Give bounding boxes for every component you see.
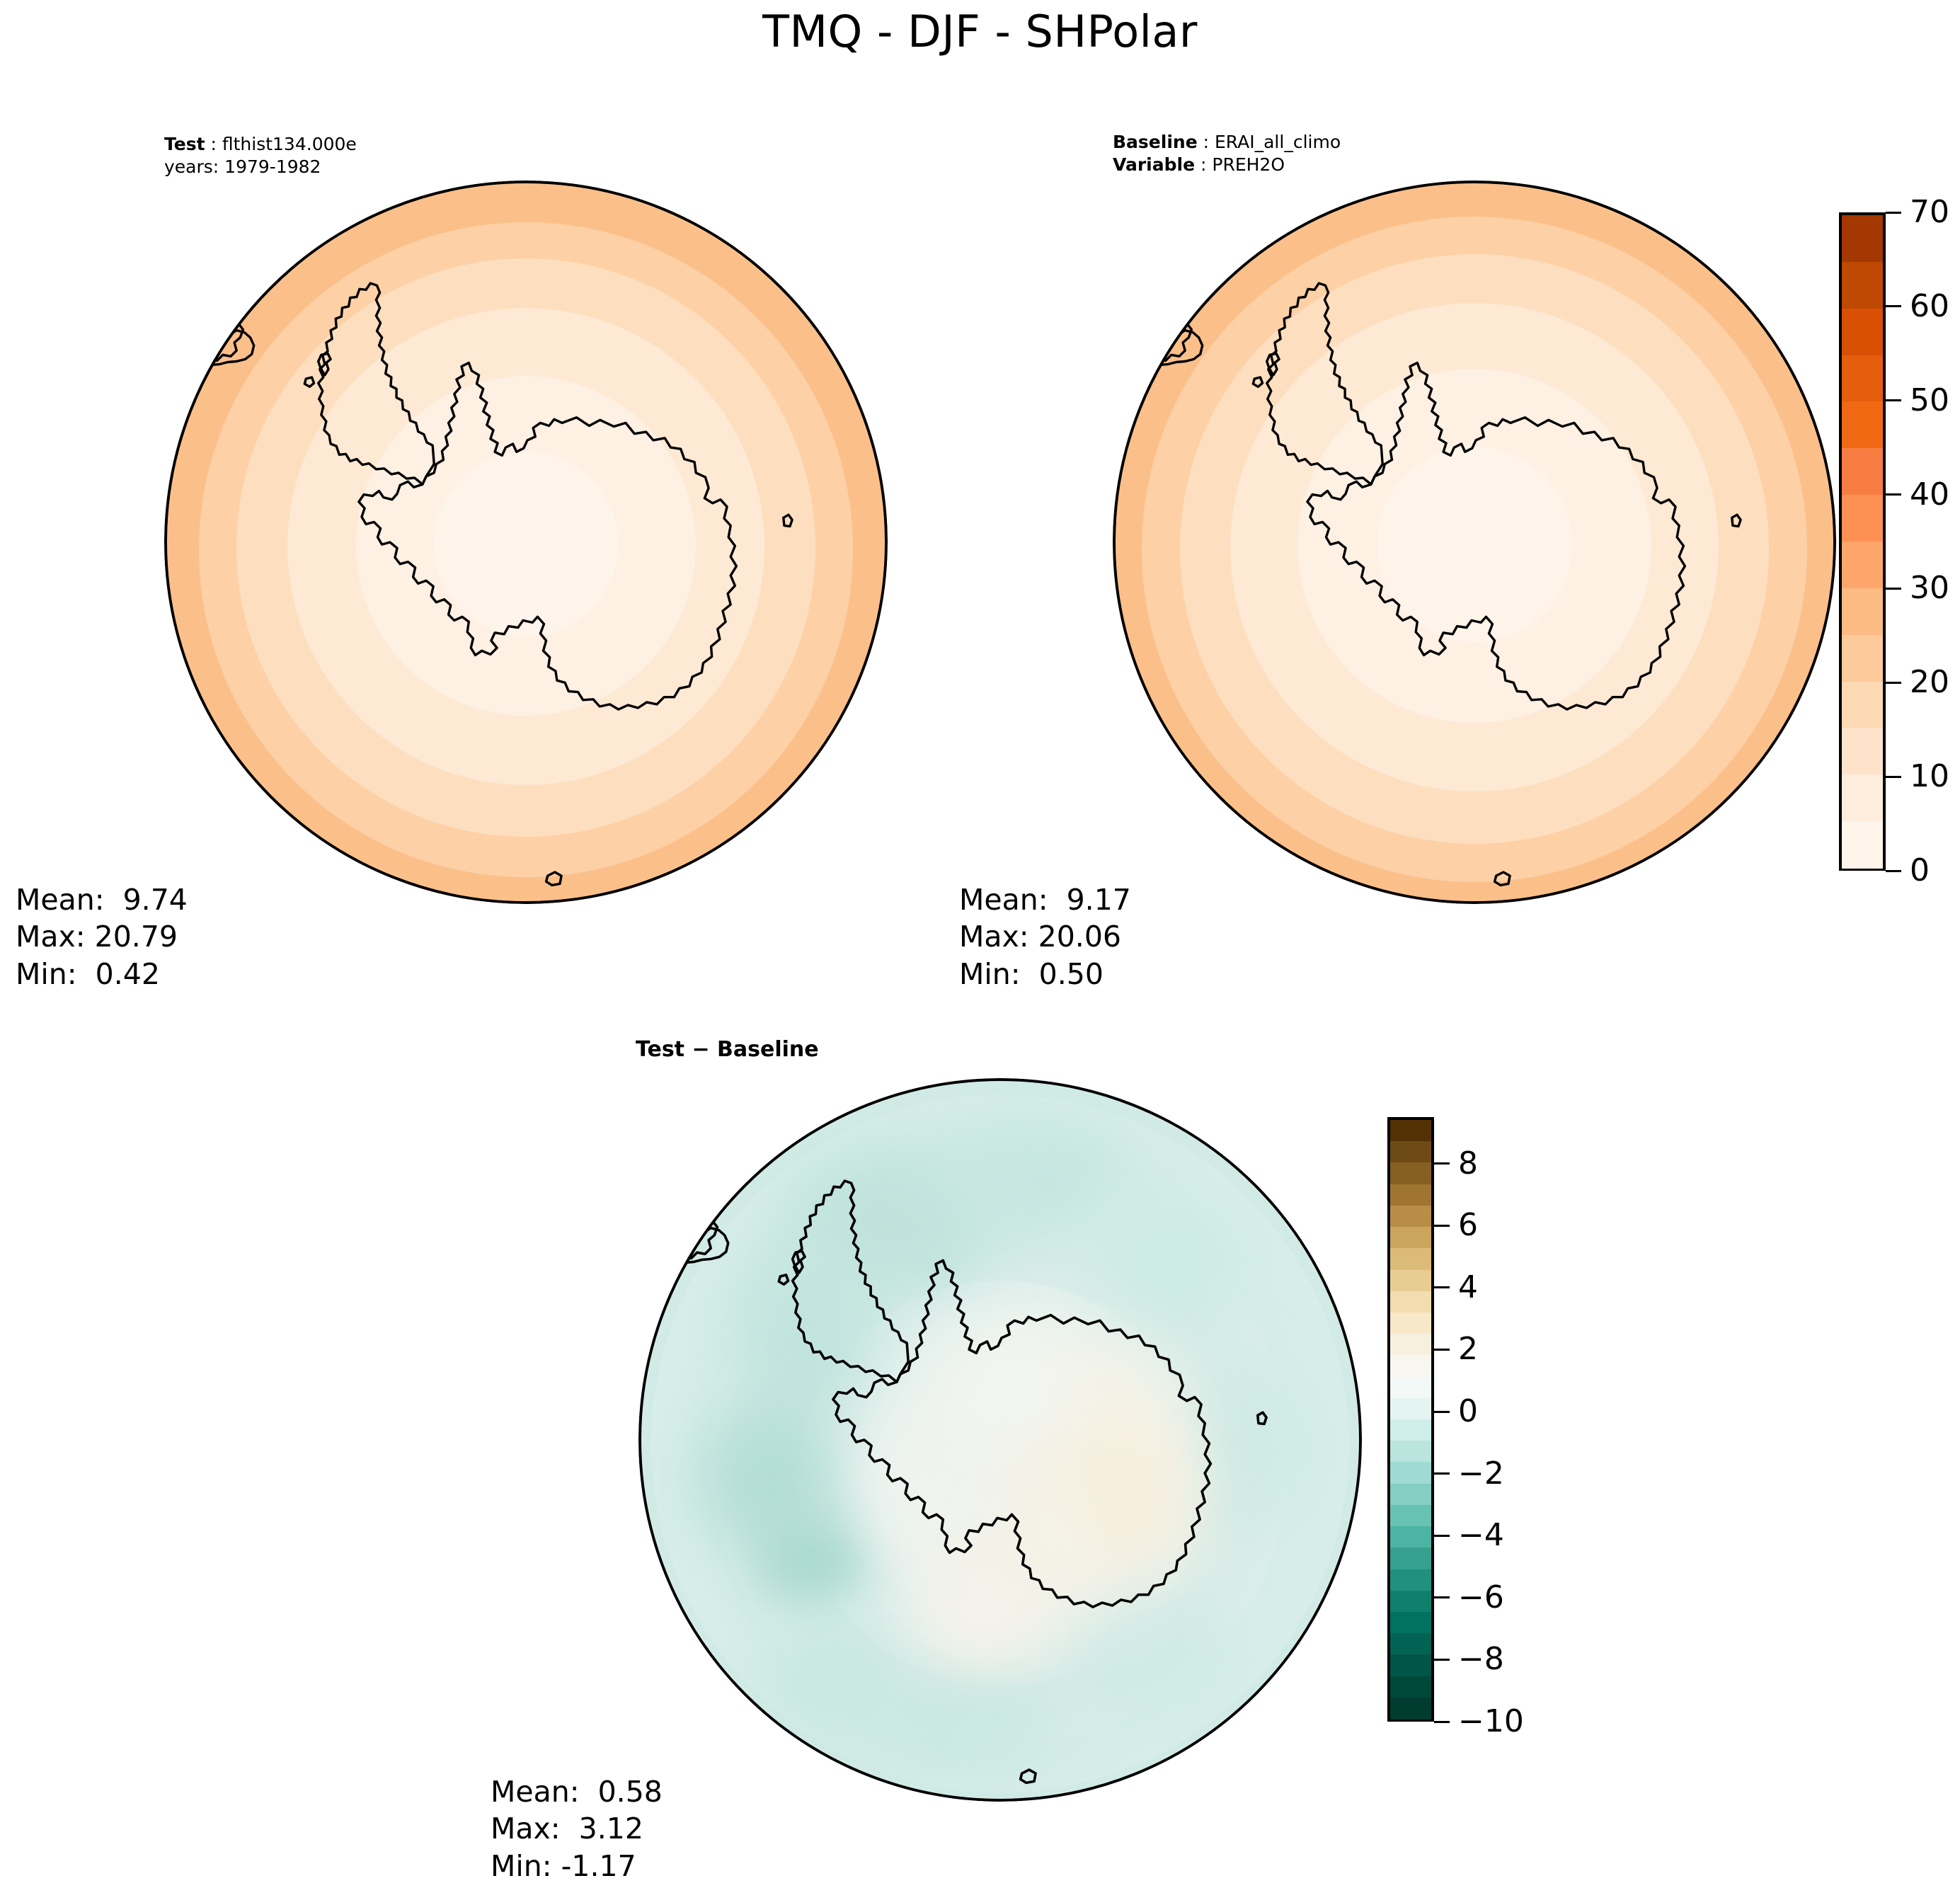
cbar-top-gradient[interactable]: [1839, 212, 1886, 871]
cbar-diff-band-2: [1390, 1162, 1431, 1184]
cbar-top-band-4: [1842, 401, 1883, 449]
cbar-diff-band-25: [1390, 1654, 1431, 1676]
coastline-layer: [638, 1078, 1362, 1802]
map-panel-difference: [638, 1078, 1362, 1802]
cbar-top-tick-3: [1886, 588, 1901, 590]
coastline-layer: [1113, 181, 1836, 904]
coastline-island-2: [784, 515, 792, 526]
coastline-antarctica: [359, 363, 737, 710]
test-sep: :: [205, 134, 222, 154]
colorbar-difference: 86420−2−4−6−8−10: [1387, 1117, 1501, 1722]
cbar-diff-band-17: [1390, 1484, 1431, 1506]
cbar-diff-ticklabel-4: 0: [1458, 1396, 1478, 1427]
colorbar-main: 010203040506070: [1839, 212, 1952, 871]
cbar-top-tick-7: [1886, 212, 1901, 214]
coastline-antarctica: [833, 1261, 1211, 1608]
cbar-top-band-2: [1842, 309, 1883, 356]
coastline-south-america: [1113, 318, 1191, 377]
baseline-annot-line2: Variable : PREH2O: [1113, 154, 1341, 176]
cbar-diff-band-8: [1390, 1291, 1431, 1313]
cbar-diff-band-22: [1390, 1591, 1431, 1613]
cbar-top-ticklabel-5: 50: [1910, 385, 1949, 416]
cbar-top-band-10: [1842, 682, 1883, 729]
cbar-top-tick-1: [1886, 776, 1901, 778]
cbar-top-band-8: [1842, 588, 1883, 636]
coastline-antarctic-peninsula: [1267, 283, 1383, 484]
cbar-top-ticklabel-2: 20: [1910, 667, 1949, 698]
baseline-annot-line1: Baseline : ERAI_all_climo: [1113, 131, 1341, 154]
cbar-diff-gradient[interactable]: [1387, 1117, 1434, 1722]
coastline-island-3: [546, 872, 562, 885]
coastline-south-america: [164, 318, 243, 377]
variable-sep: :: [1195, 154, 1212, 175]
cbar-diff-band-9: [1390, 1312, 1431, 1334]
baseline-sep: :: [1198, 132, 1215, 152]
cbar-diff-band-10: [1390, 1334, 1431, 1356]
baseline-panel-annotation: Baseline : ERAI_all_climo Variable : PRE…: [1113, 131, 1341, 176]
coastline-island-1: [304, 377, 314, 387]
cbar-top-band-0: [1842, 215, 1883, 263]
cbar-diff-tick-2: [1434, 1286, 1450, 1288]
cbar-diff-band-4: [1390, 1206, 1431, 1228]
coastline-island-2: [1258, 1412, 1266, 1424]
coastline-south-america-south: [190, 331, 254, 365]
baseline-label: Baseline: [1113, 132, 1198, 152]
coastline-antarctica: [1307, 363, 1685, 710]
cbar-top-band-12: [1842, 774, 1883, 822]
cbar-diff-ticklabel-7: −6: [1458, 1582, 1504, 1613]
cbar-top-ticklabel-1: 10: [1910, 761, 1949, 792]
coastline-antarctic-peninsula: [793, 1181, 909, 1382]
coastline-layer: [164, 181, 888, 904]
cbar-top-band-7: [1842, 542, 1883, 589]
cbar-diff-ticklabel-1: 6: [1458, 1210, 1478, 1241]
cbar-diff-band-13: [1390, 1398, 1431, 1420]
cbar-diff-band-27: [1390, 1698, 1431, 1720]
cbar-diff-ticklabel-2: 4: [1458, 1272, 1478, 1303]
cbar-diff-tick-3: [1434, 1349, 1450, 1351]
test-annot-line2: years: 1979-1982: [164, 156, 357, 178]
test-label: Test: [164, 134, 205, 154]
cbar-diff-band-16: [1390, 1462, 1431, 1484]
cbar-top-tick-0: [1886, 870, 1901, 872]
cbar-top-band-5: [1842, 448, 1883, 496]
coastline-island-1: [779, 1275, 788, 1284]
cbar-top-band-3: [1842, 355, 1883, 403]
page-title: TMQ - DJF - SHPolar: [0, 6, 1960, 57]
coastline-island-2: [1732, 515, 1741, 526]
cbar-diff-band-15: [1390, 1441, 1431, 1463]
cbar-top-tick-2: [1886, 682, 1901, 684]
cbar-diff-band-7: [1390, 1270, 1431, 1292]
coastline-south-america: [638, 1215, 717, 1275]
coastline-island-1: [1253, 377, 1262, 387]
cbar-top-band-1: [1842, 262, 1883, 309]
cbar-top-ticklabel-0: 0: [1910, 855, 1930, 886]
cbar-diff-band-18: [1390, 1505, 1431, 1527]
cbar-diff-tick-0: [1434, 1162, 1450, 1165]
cbar-diff-band-23: [1390, 1612, 1431, 1634]
cbar-diff-tick-1: [1434, 1225, 1450, 1227]
stats-test: Mean: 9.74 Max: 20.79 Min: 0.42: [16, 881, 188, 992]
test-value: flthist134.000e: [222, 134, 357, 154]
cbar-diff-band-3: [1390, 1184, 1431, 1206]
cbar-top-band-13: [1842, 821, 1883, 869]
cbar-diff-tick-6: [1434, 1535, 1450, 1537]
cbar-top-tick-5: [1886, 399, 1901, 401]
cbar-diff-ticklabel-5: −2: [1458, 1458, 1504, 1489]
stats-baseline: Mean: 9.17 Max: 20.06 Min: 0.50: [959, 881, 1131, 992]
cbar-diff-band-1: [1390, 1141, 1431, 1163]
cbar-top-band-9: [1842, 635, 1883, 682]
cbar-diff-ticklabel-0: 8: [1458, 1148, 1478, 1179]
coastline-south-america-south: [664, 1228, 728, 1263]
cbar-top-band-6: [1842, 495, 1883, 542]
cbar-diff-tick-8: [1434, 1659, 1450, 1661]
cbar-diff-tick-7: [1434, 1596, 1450, 1598]
variable-value: PREH2O: [1212, 154, 1285, 175]
coastline-island-3: [1495, 872, 1511, 885]
cbar-diff-band-14: [1390, 1419, 1431, 1441]
cbar-diff-band-6: [1390, 1248, 1431, 1270]
coastline-antarctic-peninsula: [319, 283, 435, 484]
cbar-top-ticklabel-7: 70: [1910, 197, 1949, 228]
cbar-diff-band-0: [1390, 1120, 1431, 1142]
cbar-diff-tick-9: [1434, 1721, 1450, 1723]
cbar-diff-ticklabel-3: 2: [1458, 1334, 1478, 1365]
cbar-diff-band-12: [1390, 1377, 1431, 1399]
diff-panel-title: Test − Baseline: [636, 1037, 819, 1062]
cbar-top-band-11: [1842, 728, 1883, 775]
cbar-diff-band-26: [1390, 1676, 1431, 1698]
baseline-value: ERAI_all_climo: [1215, 132, 1341, 152]
cbar-top-ticklabel-4: 40: [1910, 479, 1949, 510]
map-panel-test: [164, 181, 888, 904]
test-panel-annotation: Test : flthist134.000e years: 1979-1982: [164, 133, 357, 178]
cbar-diff-band-5: [1390, 1227, 1431, 1249]
cbar-diff-band-20: [1390, 1547, 1431, 1569]
stats-difference: Mean: 0.58 Max: 3.12 Min: -1.17: [491, 1773, 663, 1884]
cbar-diff-ticklabel-8: −8: [1458, 1644, 1504, 1675]
cbar-diff-ticklabel-6: −4: [1458, 1520, 1504, 1551]
cbar-diff-ticklabel-9: −10: [1458, 1706, 1524, 1737]
coastline-island-3: [1021, 1770, 1036, 1783]
cbar-diff-band-21: [1390, 1569, 1431, 1591]
test-annot-line1: Test : flthist134.000e: [164, 133, 357, 156]
coastline-south-america-south: [1138, 331, 1203, 365]
cbar-diff-tick-4: [1434, 1411, 1450, 1413]
cbar-diff-band-19: [1390, 1526, 1431, 1548]
variable-label: Variable: [1113, 154, 1195, 175]
cbar-top-tick-6: [1886, 305, 1901, 307]
map-panel-baseline: [1113, 181, 1836, 904]
cbar-diff-tick-5: [1434, 1472, 1450, 1475]
cbar-top-ticklabel-3: 30: [1910, 573, 1949, 604]
cbar-diff-band-24: [1390, 1633, 1431, 1655]
cbar-top-tick-4: [1886, 493, 1901, 496]
cbar-top-ticklabel-6: 60: [1910, 291, 1949, 322]
cbar-diff-band-11: [1390, 1355, 1431, 1377]
